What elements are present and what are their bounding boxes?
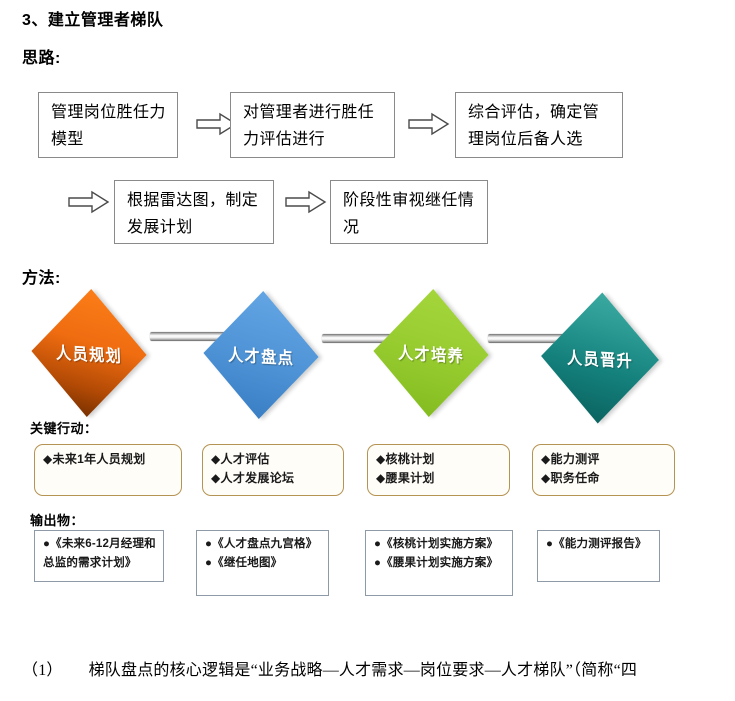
flow-box-3-text: 综合评估，确定管理岗位后备人选 (468, 104, 599, 148)
output-line: ●《继任地图》 (205, 554, 321, 573)
process-stage-2-label: 人才盘点 (227, 341, 294, 370)
output-line: ●《人才盘点九宫格》 (205, 535, 321, 554)
outputs-label: 输出物： (30, 510, 84, 529)
output-card-1: ●《未来6-12月经理和总监的需求计划》 (34, 530, 164, 582)
process-stage-rencaipeiyang[interactable]: 人才培养 (373, 289, 488, 417)
flow-box-2-text: 对管理者进行胜任力评估进行 (243, 104, 374, 148)
flow-arrow-4 (285, 190, 327, 214)
key-action-line: ◆能力测评 (541, 450, 666, 469)
section-label-fangfa: 方法: (22, 264, 61, 288)
page-title: 3、建立管理者梯队 (22, 6, 163, 30)
key-action-line: ◆核桃计划 (376, 450, 501, 469)
flow-box-5-text: 阶段性审视继任情况 (343, 192, 474, 236)
flow-arrow-3 (68, 190, 110, 214)
flow-box-4-text: 根据雷达图，制定发展计划 (127, 192, 258, 236)
key-action-card-1: ◆未来1年人员规划 (34, 444, 182, 496)
process-stage-renyuanjinsheng[interactable]: 人员晋升 (541, 293, 659, 424)
right-arrow-outline-icon (285, 190, 327, 214)
output-line: ●《核桃计划实施方案》 (374, 535, 505, 554)
flow-box-3: 综合评估，确定管理岗位后备人选 (455, 92, 623, 158)
flow-arrow-2 (408, 112, 450, 136)
output-card-4: ●《能力测评报告》 (537, 530, 660, 582)
output-line: ●《能力测评报告》 (546, 535, 652, 554)
section-label-silu: 思路: (22, 44, 61, 68)
key-action-line: ◆腰果计划 (376, 469, 501, 488)
process-diagram: 人员规划 人才盘点 人才培养 人员晋升 (0, 296, 735, 416)
key-actions-label: 关键行动： (30, 418, 98, 437)
flow-box-4: 根据雷达图，制定发展计划 (114, 180, 274, 244)
output-card-2: ●《人才盘点九宫格》 ●《继任地图》 (196, 530, 329, 596)
output-card-3: ●《核桃计划实施方案》 ●《腰果计划实施方案》 (365, 530, 513, 596)
flow-box-1: 管理岗位胜任力模型 (38, 92, 178, 158)
key-action-line: ◆未来1年人员规划 (43, 450, 173, 469)
flow-box-5: 阶段性审视继任情况 (330, 180, 488, 244)
process-stage-rencaipandian[interactable]: 人才盘点 (203, 291, 318, 419)
footer-item-text: 梯队盘点的核心逻辑是“业务战略—人才需求—岗位要求—人才梯队”（简称“四 (89, 662, 638, 679)
right-arrow-outline-icon (408, 112, 450, 136)
footer-paragraph: （1）梯队盘点的核心逻辑是“业务战略—人才需求—岗位要求—人才梯队”（简称“四 (22, 660, 722, 682)
output-line: ●《未来6-12月经理和总监的需求计划》 (43, 535, 156, 573)
process-stage-4-label: 人员晋升 (566, 344, 633, 373)
process-stage-renyuanguihua[interactable]: 人员规划 (31, 289, 146, 417)
key-action-line: ◆职务任命 (541, 469, 666, 488)
footer-item-number: （1） (22, 662, 63, 679)
flow-box-2: 对管理者进行胜任力评估进行 (230, 92, 395, 158)
right-arrow-outline-icon (68, 190, 110, 214)
key-action-card-3: ◆核桃计划 ◆腰果计划 (367, 444, 510, 496)
key-action-line: ◆人才发展论坛 (211, 469, 335, 488)
process-stage-3-label: 人才培养 (397, 339, 464, 368)
flow-box-1-text: 管理岗位胜任力模型 (51, 104, 166, 148)
key-action-line: ◆人才评估 (211, 450, 335, 469)
key-action-card-4: ◆能力测评 ◆职务任命 (532, 444, 675, 496)
output-line: ●《腰果计划实施方案》 (374, 554, 505, 573)
process-stage-1-label: 人员规划 (55, 339, 122, 368)
key-action-card-2: ◆人才评估 ◆人才发展论坛 (202, 444, 344, 496)
